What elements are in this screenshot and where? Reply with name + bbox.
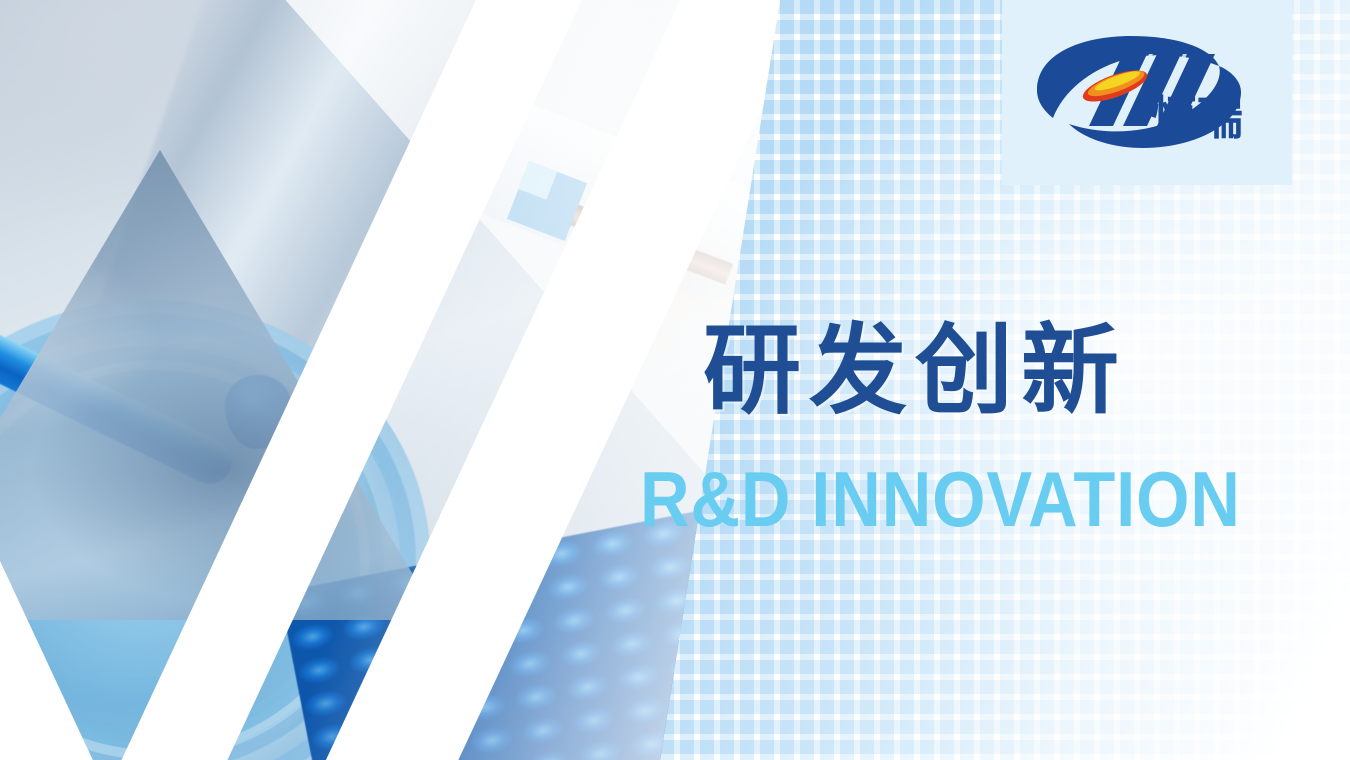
lab-photo-collage — [0, 0, 780, 760]
logo-panel: 恒瑞 — [1002, 0, 1292, 185]
rd-innovation-banner: 恒瑞 研发创新 R&D INNOVATION — [0, 0, 1350, 760]
page-subtitle-en: R&D INNOVATION — [640, 460, 1241, 538]
hengrui-logo: 恒瑞 — [1019, 30, 1275, 155]
photo-right-fade — [0, 0, 780, 760]
hengrui-oval-swoosh-mark-icon: 恒瑞 — [1019, 30, 1275, 155]
logo-brand-text: 恒瑞 — [1151, 91, 1243, 145]
page-title-cn: 研发创新 — [703, 322, 1127, 422]
